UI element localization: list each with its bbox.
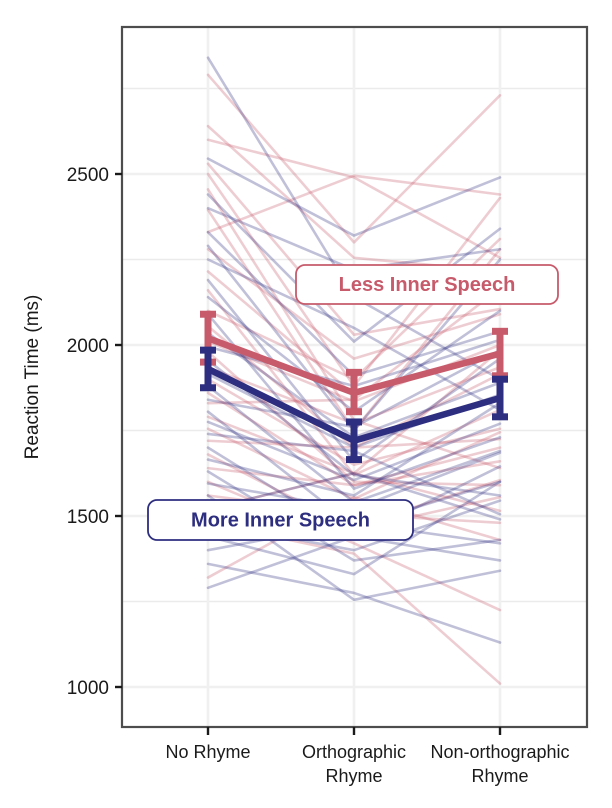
annotation-label: More Inner Speech xyxy=(191,509,370,531)
annotation-less-inner-speech: Less Inner Speech xyxy=(296,265,558,304)
x-axis-tick-label: Non-orthographic xyxy=(430,742,569,762)
x-axis-tick-label-line2: Rhyme xyxy=(471,766,528,786)
y-axis-tick-label: 2000 xyxy=(67,336,109,357)
y-axis-tick-label: 1500 xyxy=(67,507,109,528)
x-axis-tick-label-line2: Rhyme xyxy=(325,766,382,786)
x-axis-tick-label: Orthographic xyxy=(302,742,406,762)
annotation-more-inner-speech: More Inner Speech xyxy=(148,500,413,540)
x-axis-tick-label: No Rhyme xyxy=(165,742,250,762)
annotation-label: Less Inner Speech xyxy=(339,274,516,296)
reaction-time-spaghetti-chart: 1000150020002500 No RhymeOrthographicRhy… xyxy=(0,0,612,808)
y-axis-tick-label: 1000 xyxy=(67,678,109,699)
y-axis-tick-label: 2500 xyxy=(67,165,109,186)
y-axis-title: Reaction Time (ms) xyxy=(22,295,43,460)
figure-root: 1000150020002500 No RhymeOrthographicRhy… xyxy=(0,0,612,808)
